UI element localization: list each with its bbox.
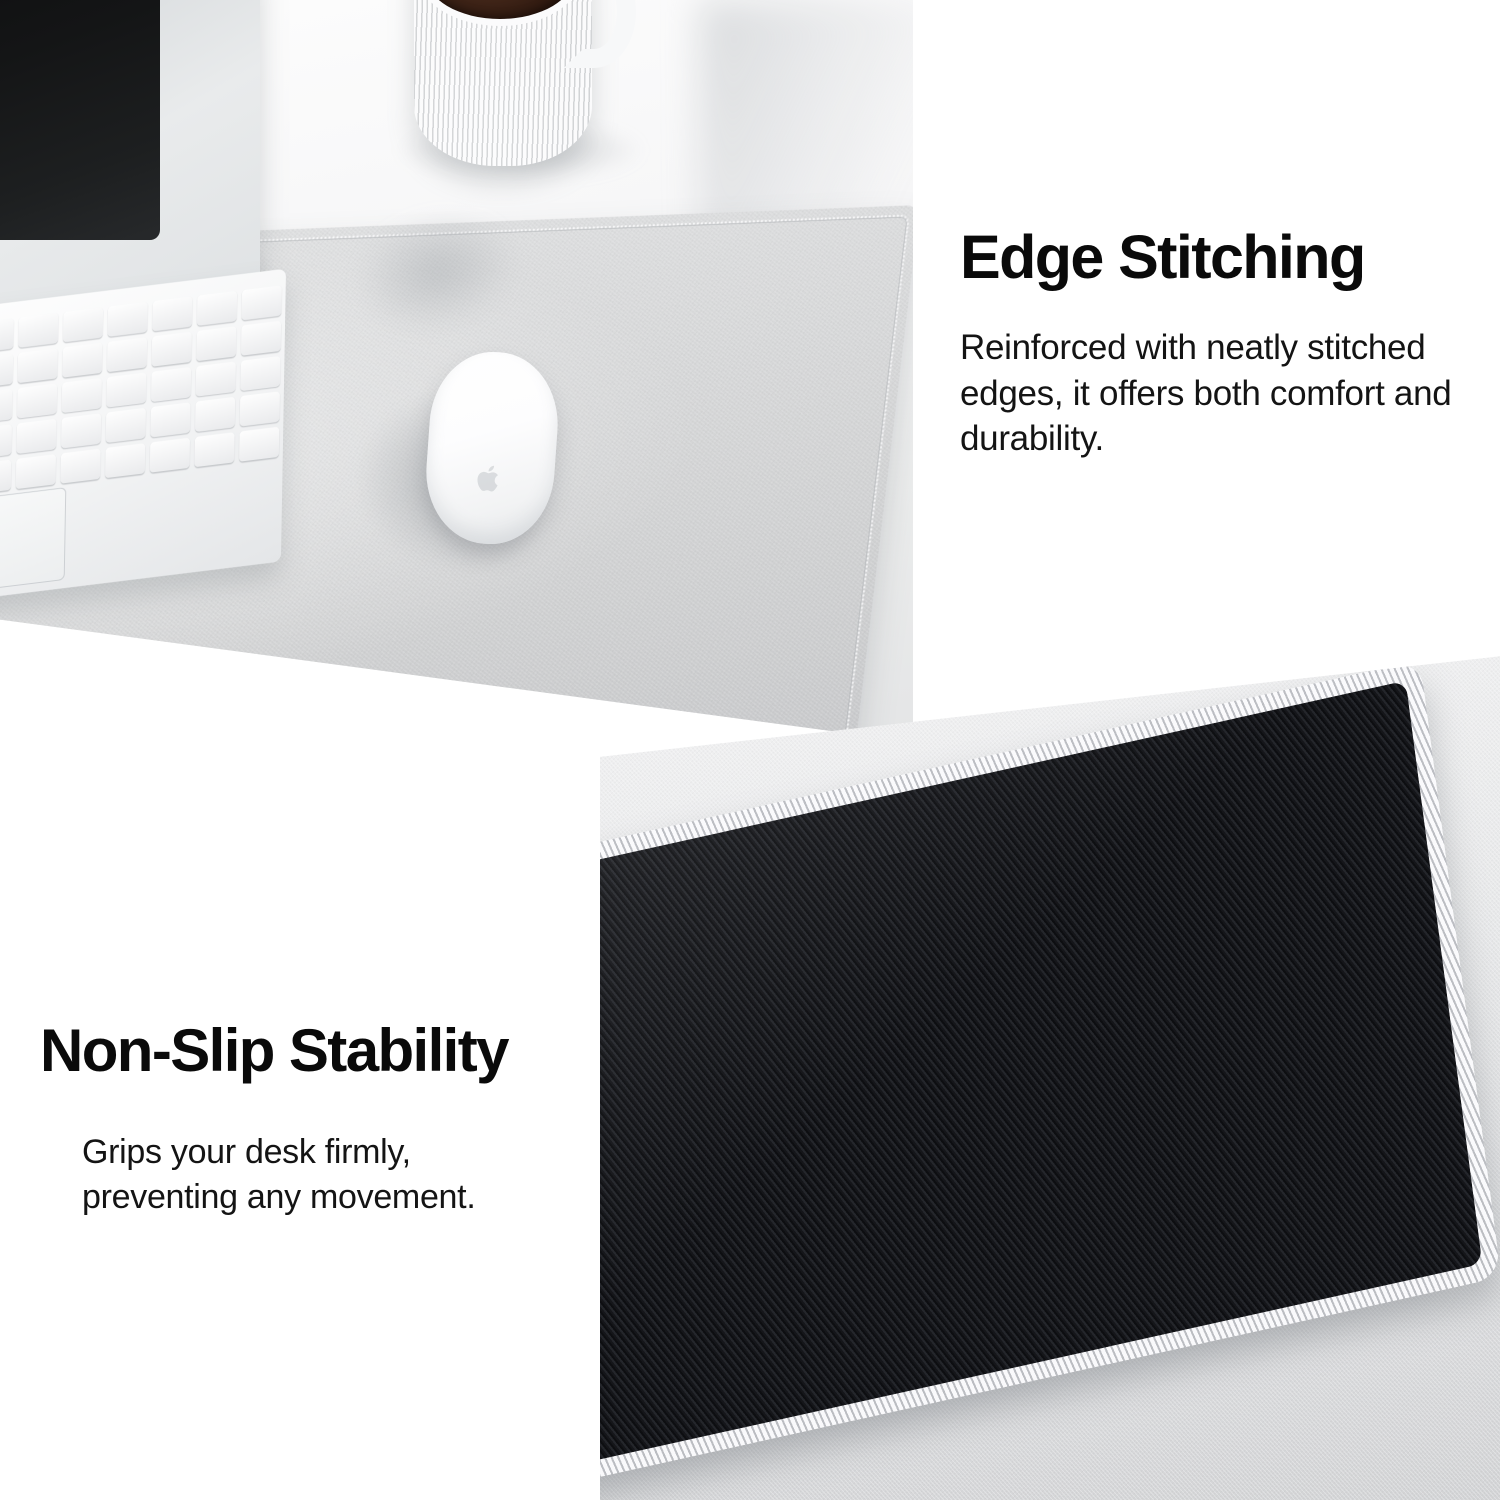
coffee-mug: [414, 0, 592, 166]
feature-description-non-slip-stability: Grips your desk firmly, preventing any m…: [82, 1130, 570, 1218]
key: [62, 343, 102, 378]
key: [195, 397, 235, 432]
key: [152, 296, 192, 331]
tablet-device: [0, 0, 260, 305]
key: [61, 413, 101, 448]
key: [242, 285, 282, 320]
key: [0, 318, 14, 353]
keyboard-keys: [0, 285, 282, 495]
feature-description-edge-stitching: Reinforced with neatly stitched edges, i…: [960, 325, 1480, 462]
key: [18, 313, 58, 348]
key: [150, 438, 190, 473]
feature-title-edge-stitching: Edge Stitching: [960, 226, 1480, 289]
key: [152, 332, 192, 367]
key: [0, 424, 12, 459]
key: [197, 291, 237, 326]
key: [106, 372, 146, 407]
key: [107, 337, 147, 372]
apple-logo-icon: [476, 463, 504, 495]
key: [241, 321, 281, 356]
key: [151, 367, 191, 402]
photo-desk-setup: [0, 0, 913, 742]
key: [196, 361, 236, 396]
key: [16, 419, 56, 454]
key: [17, 383, 57, 418]
key: [0, 460, 11, 495]
key: [106, 408, 146, 443]
feature-block-non-slip-stability: Non-Slip Stability Grips your desk firml…: [40, 1020, 570, 1219]
key: [62, 378, 102, 413]
key: [239, 427, 279, 462]
magic-keyboard: [0, 269, 286, 612]
key: [240, 356, 280, 391]
key: [0, 353, 13, 388]
key: [63, 307, 103, 342]
trackpad: [0, 487, 66, 602]
screen-glare: [0, 0, 32, 58]
photo-mat-underside: [600, 610, 1500, 1500]
key: [196, 326, 236, 361]
feature-block-edge-stitching: Edge Stitching Reinforced with neatly st…: [960, 226, 1480, 462]
product-feature-graphic: Edge Stitching Reinforced with neatly st…: [0, 0, 1500, 1500]
key: [105, 443, 145, 478]
key: [60, 449, 100, 484]
tablet-screen: [0, 0, 160, 240]
key: [108, 302, 148, 337]
key: [0, 389, 13, 424]
key: [150, 402, 190, 437]
key: [16, 454, 56, 489]
key: [194, 432, 234, 467]
key: [18, 348, 58, 383]
key: [240, 391, 280, 426]
feature-title-non-slip-stability: Non-Slip Stability: [40, 1020, 570, 1082]
